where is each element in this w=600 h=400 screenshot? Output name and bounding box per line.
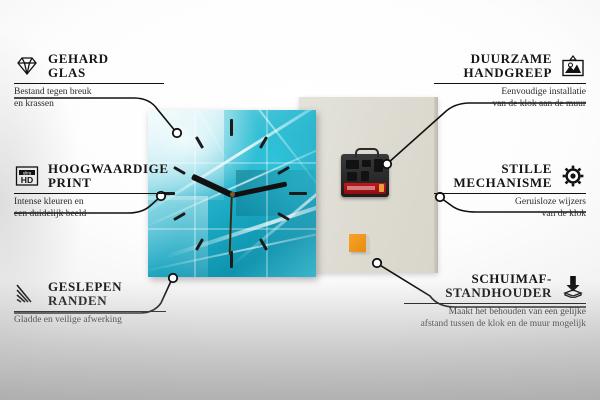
- feature-body-line2: van de klok: [434, 209, 586, 221]
- feature-body-line2: en krassen: [14, 99, 164, 111]
- feature-rule: [14, 311, 166, 312]
- feature-title-line1: SCHUIMAF-: [445, 272, 552, 286]
- feature-title-line2: HANDGREEP: [464, 66, 552, 80]
- feature-title-line2: PRINT: [48, 176, 169, 190]
- feature-header: GESLEPEN RANDEN: [14, 280, 166, 308]
- feature-title-line2: STANDHOUDER: [445, 286, 552, 300]
- feature-body-line1: Geruisloze wijzers: [434, 197, 586, 209]
- feature-rule: [434, 83, 586, 84]
- product-infographic: GEHARD GLAS Bestand tegen breuk en krass…: [0, 0, 600, 400]
- feature-header: SCHUIMAF- STANDHOUDER: [404, 272, 586, 300]
- feature-rule: [14, 83, 164, 84]
- hanging-hook-icon: [355, 148, 379, 158]
- feature-rule: [404, 303, 586, 304]
- feature-body-line2: van de klok aan de muur: [434, 99, 586, 111]
- feature-stille-mechanisme: STILLE MECHANISME G: [434, 162, 586, 220]
- feature-title-line2: RANDEN: [48, 294, 122, 308]
- mechanism-detail: [362, 160, 371, 167]
- clock-center-pivot: [230, 192, 235, 197]
- battery-terminal: [379, 184, 384, 192]
- feature-title-line1: DUURZAME: [464, 52, 552, 66]
- feature-title-line1: STILLE: [454, 162, 552, 176]
- diamond-icon: [14, 54, 40, 78]
- hour-tick-12: [230, 119, 233, 136]
- feature-title-line1: HOOGWAARDIGE: [48, 162, 169, 176]
- feature-duurzame-handgreep: DUURZAME HANDGREEP Eenvoudige installati…: [434, 52, 586, 110]
- arrow-down-spacer-icon: [560, 274, 586, 298]
- feature-header: ultra HD HOOGWAARDIGE PRINT: [14, 162, 166, 190]
- feature-body-line1: Eenvoudige installatie: [434, 87, 586, 99]
- feature-body-line1: Maakt het behouden van een gelijke: [404, 307, 586, 319]
- beveled-edges-icon: [14, 282, 40, 306]
- feature-title-line2: GLAS: [48, 66, 109, 80]
- feature-body-line1: Gladde en veilige afwerking: [14, 315, 166, 327]
- feature-header: DUURZAME HANDGREEP: [434, 52, 586, 80]
- feature-body-line1: Intense kleuren en: [14, 197, 166, 209]
- feature-body-line2: afstand tussen de klok en de muur mogeli…: [404, 319, 586, 331]
- ultra-hd-icon: ultra HD: [14, 164, 40, 188]
- hour-tick-3: [289, 192, 307, 195]
- mechanism-detail: [361, 171, 369, 181]
- mechanism-detail: [374, 159, 383, 172]
- feature-header: GEHARD GLAS: [14, 52, 164, 80]
- svg-text:HD: HD: [21, 175, 33, 185]
- mechanism-detail: [347, 172, 357, 181]
- feature-geslepen-randen: GESLEPEN RANDEN Gladde en veilige afwerk…: [14, 280, 166, 327]
- feature-header: STILLE MECHANISME: [434, 162, 586, 190]
- foam-spacer-pad: [349, 234, 366, 252]
- feature-body-line1: Bestand tegen breuk: [14, 87, 164, 99]
- feature-rule: [434, 193, 586, 194]
- picture-frame-icon: [560, 54, 586, 78]
- feature-title-line1: GEHARD: [48, 52, 109, 66]
- mechanism-detail: [346, 160, 359, 169]
- feature-body-line2: een duidelijk beeld: [14, 209, 166, 221]
- feature-hoogwaardige-print: ultra HD HOOGWAARDIGE PRINT Intense kleu…: [14, 162, 166, 220]
- glass-wall-clock: [148, 110, 316, 277]
- clock-back-panel: [299, 97, 438, 273]
- feature-schuimaf-standhouder: SCHUIMAF- STANDHOUDER Maakt het behouden…: [404, 272, 586, 330]
- battery: [344, 183, 386, 194]
- feature-rule: [14, 193, 166, 194]
- clock-mechanism: [341, 154, 389, 197]
- feature-title-line2: MECHANISME: [454, 176, 552, 190]
- feature-gehard-glas: GEHARD GLAS Bestand tegen breuk en krass…: [14, 52, 164, 110]
- gear-icon: [560, 164, 586, 188]
- battery-label: [347, 186, 375, 190]
- feature-title-line1: GESLEPEN: [48, 280, 122, 294]
